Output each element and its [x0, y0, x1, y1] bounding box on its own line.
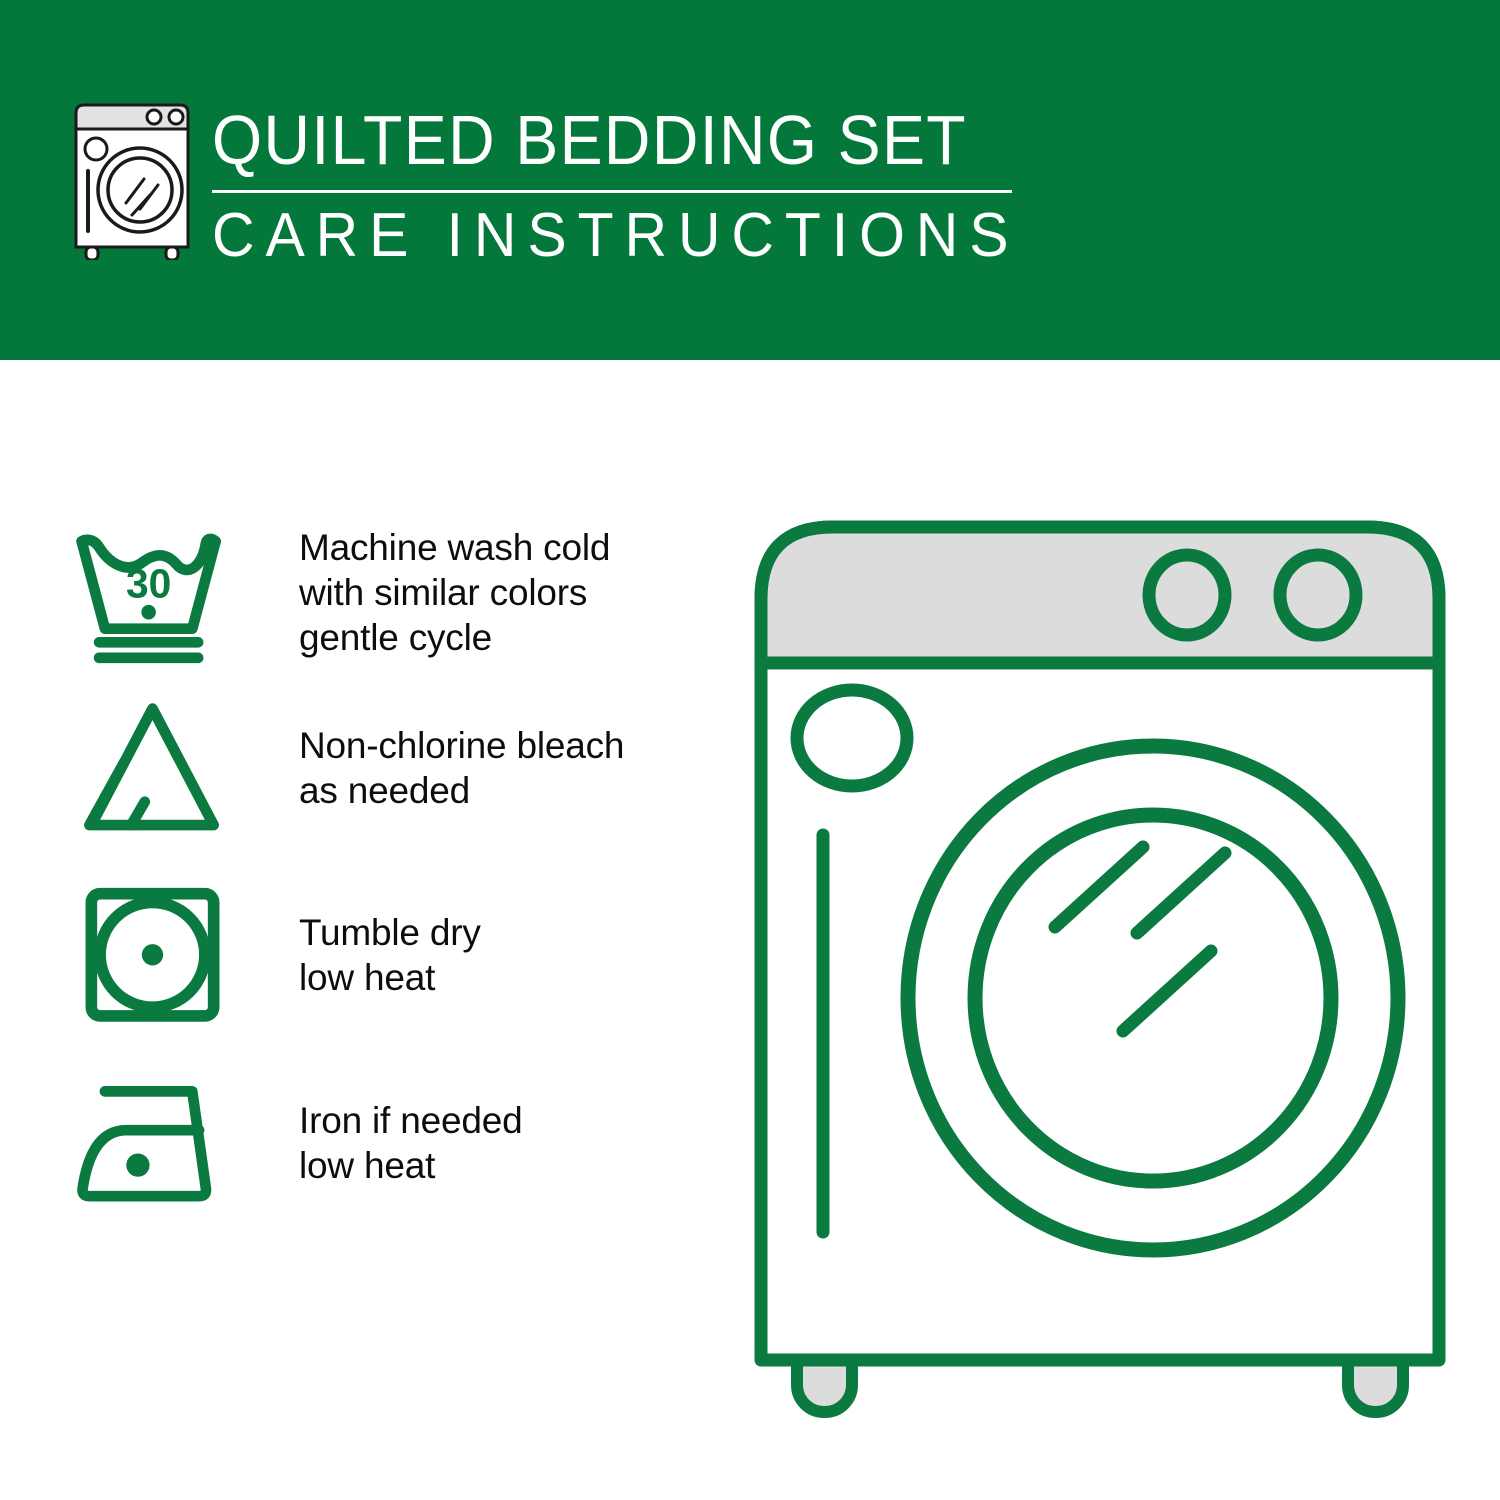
care-text-line: low heat	[299, 955, 720, 1000]
washing-machine-illustration	[735, 495, 1465, 1420]
care-row: Iron if needed low heat	[70, 1055, 720, 1230]
care-text-line: low heat	[299, 1143, 720, 1188]
knob-left	[1149, 555, 1225, 635]
care-row: Non-chlorine bleach as needed	[70, 680, 720, 855]
care-text: Iron if needed low heat	[235, 1098, 720, 1188]
care-instruction-list: 30 Machine wash cold with similar colors…	[70, 505, 720, 1230]
care-text-line: gentle cycle	[299, 615, 720, 660]
care-text-line: with similar colors	[299, 570, 720, 615]
detergent-circle	[797, 690, 907, 786]
care-row: 30 Machine wash cold with similar colors…	[70, 505, 720, 680]
care-text-line: Machine wash cold	[299, 525, 720, 570]
care-row: Tumble dry low heat	[70, 855, 720, 1055]
care-text: Non-chlorine bleach as needed	[235, 723, 720, 813]
care-text-line: as needed	[299, 768, 720, 813]
wash-temperature-label: 30	[126, 560, 171, 606]
iron-low-heat-icon	[70, 1068, 235, 1218]
bleach-triangle-icon	[70, 693, 235, 843]
header-banner: QUILTED BEDDING SET CARE INSTRUCTIONS	[0, 0, 1500, 360]
care-text: Tumble dry low heat	[235, 910, 720, 1000]
knob-right	[1280, 555, 1356, 635]
care-text-line: Tumble dry	[299, 910, 720, 955]
page-title: QUILTED BEDDING SET	[212, 103, 994, 177]
care-text-line: Non-chlorine bleach	[299, 723, 720, 768]
washing-machine-icon	[62, 95, 202, 260]
care-text-line: Iron if needed	[299, 1098, 720, 1143]
wash-tub-30-icon: 30	[70, 518, 235, 668]
tumble-dry-low-icon	[70, 880, 235, 1030]
page-subtitle: CARE INSTRUCTIONS	[212, 203, 1019, 269]
care-text: Machine wash cold with similar colors ge…	[235, 525, 720, 660]
header-title-group: QUILTED BEDDING SET CARE INSTRUCTIONS	[212, 95, 1062, 269]
header-content: QUILTED BEDDING SET CARE INSTRUCTIONS	[62, 95, 1062, 269]
title-divider	[212, 190, 1012, 193]
